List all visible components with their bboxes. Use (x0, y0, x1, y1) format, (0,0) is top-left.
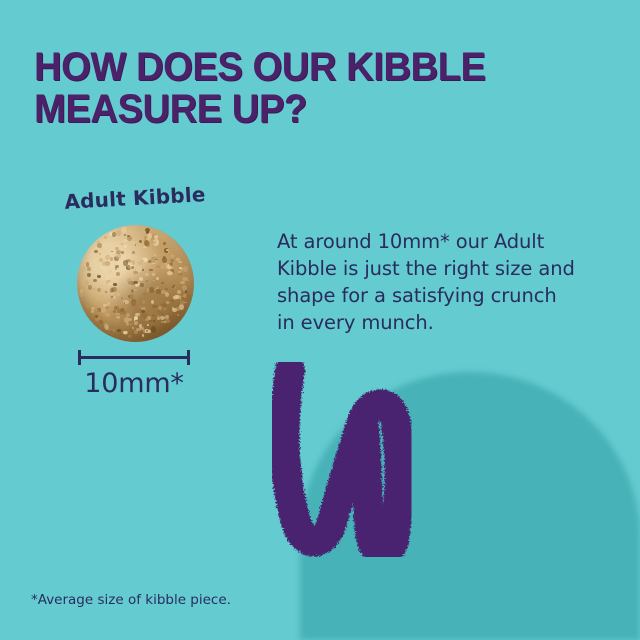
measurement-rule (78, 356, 190, 359)
brush-stroke-icon (258, 362, 428, 557)
adult-kibble-label: Adult Kibble (59, 182, 210, 214)
adult-kibble-disc (77, 225, 194, 342)
body-paragraph: At around 10mm* our Adult Kibble is just… (277, 228, 577, 336)
measurement-cap-right (187, 350, 190, 365)
page-title: HOW DOES OUR KIBBLE MEASURE UP? (34, 46, 550, 130)
kibble-infographic: HOW DOES OUR KIBBLE MEASURE UP? Adult Ki… (0, 0, 640, 640)
measurement-bar (78, 350, 190, 364)
footnote: *Average size of kibble piece. (31, 592, 231, 608)
measurement-value: 10mm* (58, 368, 210, 399)
